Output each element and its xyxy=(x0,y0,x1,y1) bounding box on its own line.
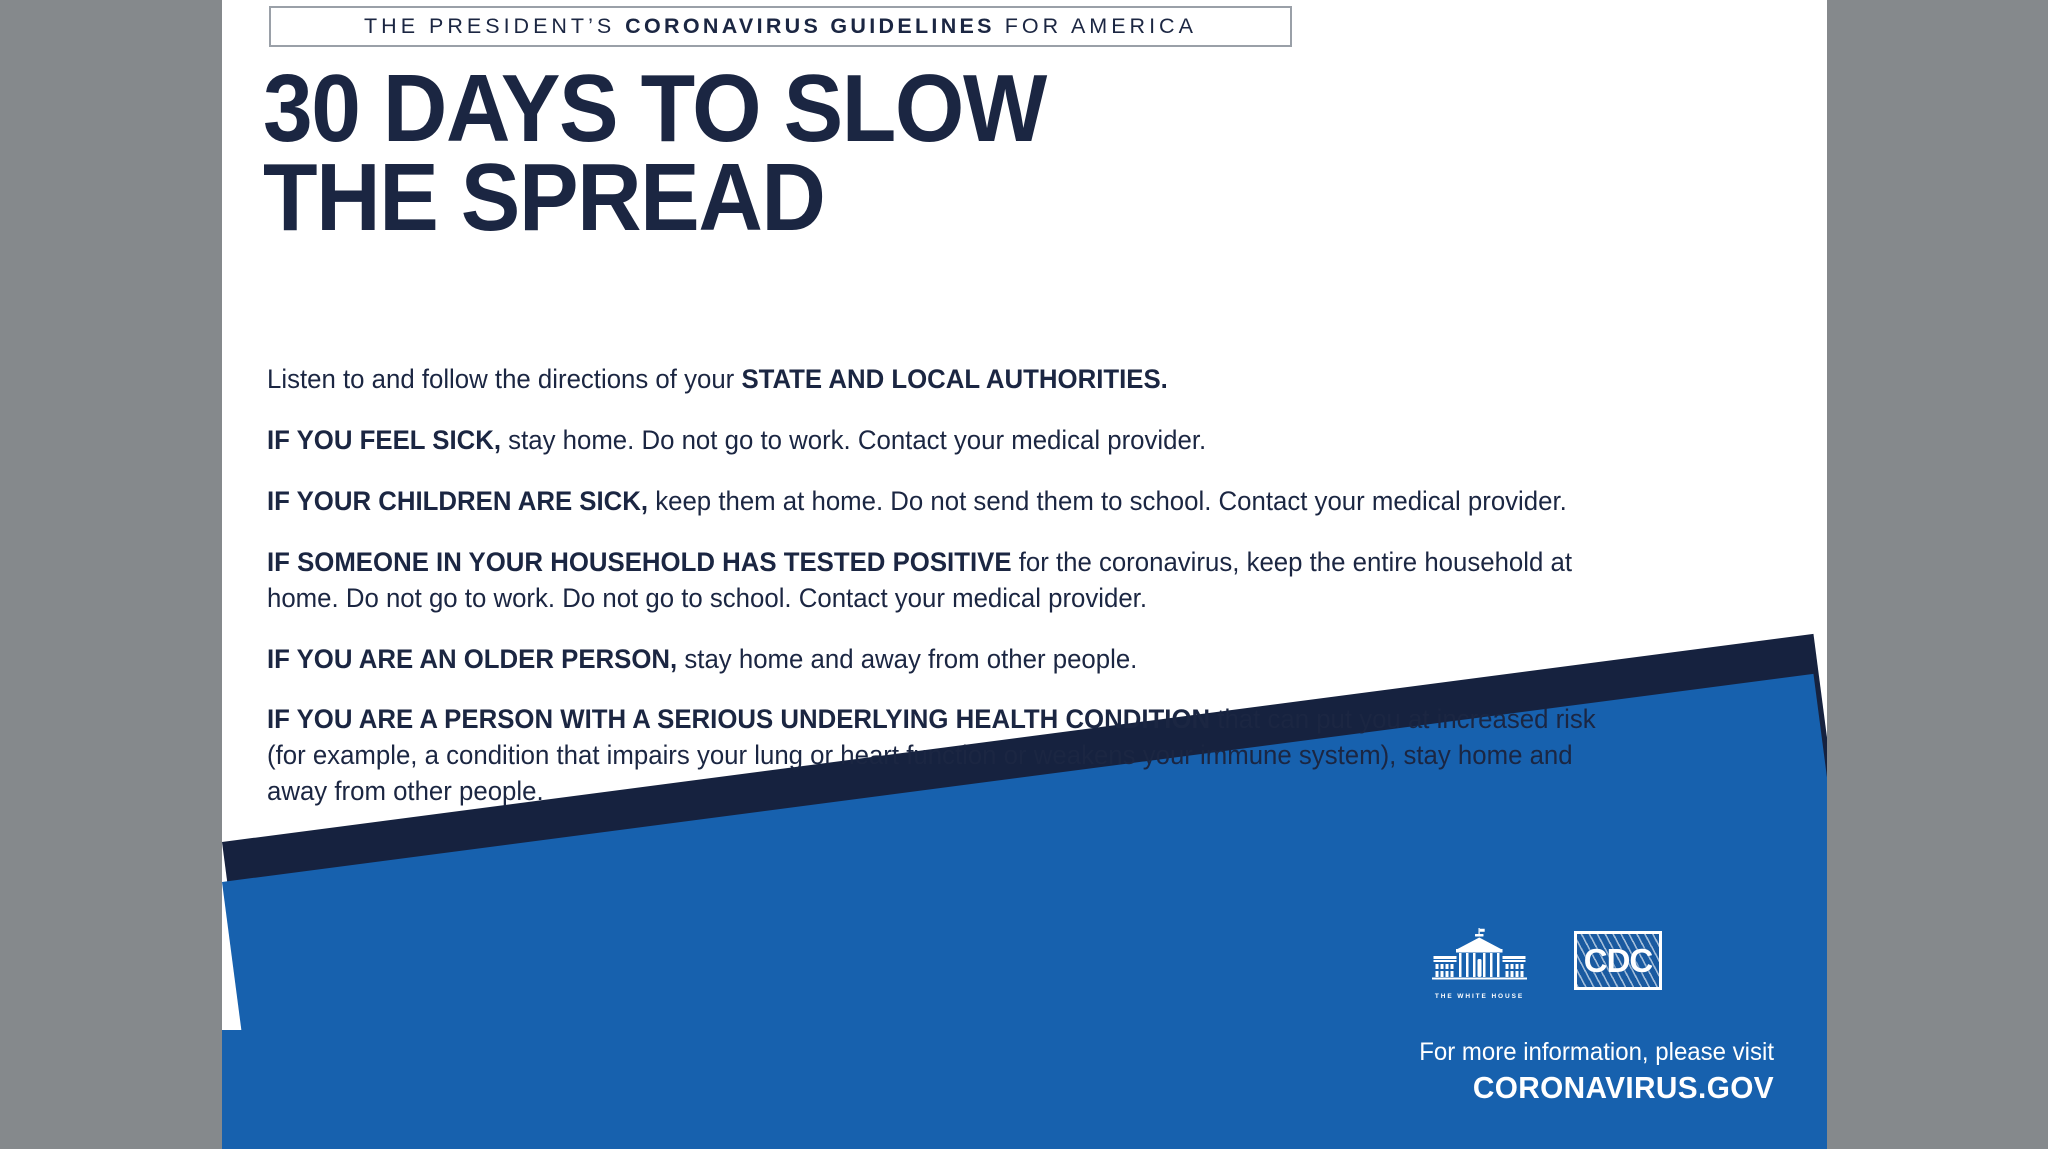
guideline-paragraph: IF YOU ARE A PERSON WITH A SERIOUS UNDER… xyxy=(267,702,1623,810)
poster-canvas: THE PRESIDENT’S CORONAVIRUS GUIDELINES F… xyxy=(222,0,1827,1149)
guideline-paragraph: IF SOMEONE IN YOUR HOUSEHOLD HAS TESTED … xyxy=(267,545,1623,617)
guideline-paragraph: Listen to and follow the directions of y… xyxy=(267,362,1623,398)
guideline-paragraph: IF YOUR CHILDREN ARE SICK, keep them at … xyxy=(267,484,1623,520)
guideline-emphasis: IF YOU ARE AN OLDER PERSON, xyxy=(267,644,677,674)
agency-logos: THE WHITE HOUSE CDC xyxy=(1427,928,1662,1000)
guideline-text: Listen to and follow the directions of y… xyxy=(267,364,741,394)
white-house-logo: THE WHITE HOUSE xyxy=(1427,928,1532,1000)
guideline-emphasis: IF YOU ARE A PERSON WITH A SERIOUS UNDER… xyxy=(267,704,1210,734)
white-house-icon xyxy=(1427,928,1532,990)
headline-line-2: THE SPREAD xyxy=(263,153,1046,242)
presidents-guidelines-text: THE PRESIDENT’S CORONAVIRUS GUIDELINES F… xyxy=(364,14,1197,39)
guideline-emphasis: IF YOU FEEL SICK, xyxy=(267,425,501,455)
page-title: 30 DAYS TO SLOW THE SPREAD xyxy=(263,64,1046,243)
guideline-text: stay home and away from other people. xyxy=(677,644,1137,674)
cdc-logo: CDC xyxy=(1574,931,1662,990)
guideline-text: stay home. Do not go to work. Contact yo… xyxy=(501,425,1206,455)
guidelines-suffix: FOR AMERICA xyxy=(995,14,1197,38)
guidelines-body: Listen to and follow the directions of y… xyxy=(267,362,1623,810)
footer-website-url: CORONAVIRUS.GOV xyxy=(284,1070,1774,1107)
guideline-emphasis: IF YOUR CHILDREN ARE SICK, xyxy=(267,486,648,516)
guidelines-highlight: CORONAVIRUS GUIDELINES xyxy=(625,14,995,38)
footer-more-info-text: For more information, please visit xyxy=(284,1038,1774,1068)
guideline-paragraph: IF YOU ARE AN OLDER PERSON, stay home an… xyxy=(267,642,1623,678)
white-house-caption: THE WHITE HOUSE xyxy=(1427,993,1532,1000)
guideline-paragraph: IF YOU FEEL SICK, stay home. Do not go t… xyxy=(267,423,1623,459)
headline-line-1: 30 DAYS TO SLOW xyxy=(263,64,1046,153)
presidents-guidelines-banner: THE PRESIDENT’S CORONAVIRUS GUIDELINES F… xyxy=(269,6,1292,47)
guideline-emphasis: IF SOMEONE IN YOUR HOUSEHOLD HAS TESTED … xyxy=(267,547,1012,577)
guideline-text: keep them at home. Do not send them to s… xyxy=(648,486,1567,516)
guidelines-prefix: THE PRESIDENT’S xyxy=(364,14,625,38)
guideline-emphasis: STATE AND LOCAL AUTHORITIES. xyxy=(741,364,1167,394)
cdc-logo-label: CDC xyxy=(1584,944,1653,977)
footer: For more information, please visit CORON… xyxy=(222,1038,1827,1106)
